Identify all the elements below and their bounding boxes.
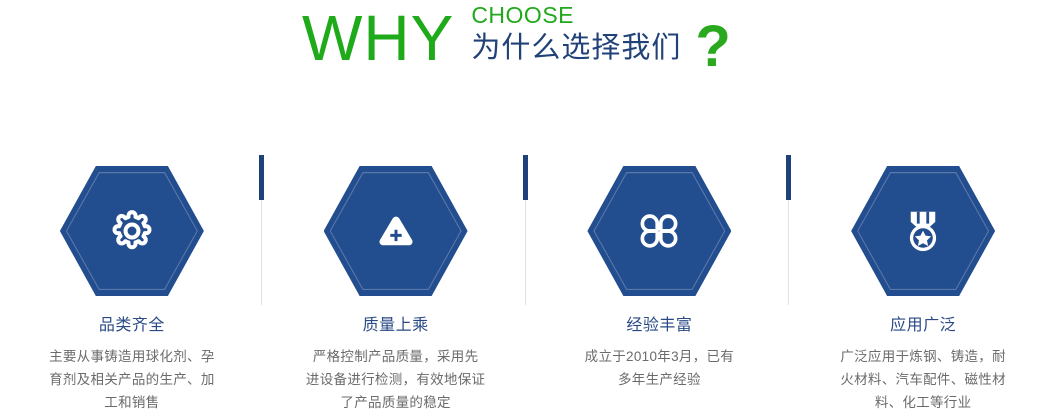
card-body-line: 成立于2010年3月，已有 xyxy=(546,345,772,368)
hexagon-badge-1 xyxy=(60,166,204,296)
card-title: 质量上乘 xyxy=(363,316,429,336)
card-body: 严格控制产品质量，采用先 进设备进行检测，有效地保证 了产品质量的稳定 xyxy=(283,345,509,414)
triangle-plus-icon xyxy=(368,203,424,259)
heading-question-mark: ? xyxy=(695,0,730,76)
hexagon-badge-3 xyxy=(587,166,731,296)
card-body-line: 多年生产经验 xyxy=(546,368,772,391)
feature-card-4: 应用广泛 广泛应用于炼钢、铸造，耐 火材料、汽车配件、磁性材 料、化工等行业 xyxy=(791,150,1055,416)
card-body-line: 育剂及相关产品的生产、加 xyxy=(19,368,245,391)
divider-bottom-segment xyxy=(788,200,789,305)
feature-card-2: 质量上乘 严格控制产品质量，采用先 进设备进行检测，有效地保证 了产品质量的稳定 xyxy=(264,150,528,416)
card-body: 主要从事铸造用球化剂、孕 育剂及相关产品的生产、加 工和销售 xyxy=(19,345,245,414)
card-title: 经验丰富 xyxy=(626,316,692,336)
heading-why: WHY xyxy=(302,0,454,70)
clover-icon xyxy=(631,203,687,259)
card-body-line: 严格控制产品质量，采用先 xyxy=(283,345,509,368)
heading-mid-block: CHOOSE 为什么选择我们 xyxy=(471,0,681,66)
card-body-line: 广泛应用于炼钢、铸造，耐 xyxy=(810,345,1036,368)
card-body-line: 料、化工等行业 xyxy=(810,391,1036,414)
gear-icon xyxy=(104,203,160,259)
feature-card-1: 品类齐全 主要从事铸造用球化剂、孕 育剂及相关产品的生产、加 工和销售 xyxy=(0,150,264,416)
hexagon-badge-4 xyxy=(851,166,995,296)
section-heading: WHY CHOOSE 为什么选择我们 ? xyxy=(0,0,1055,95)
card-body-line: 进设备进行检测，有效地保证 xyxy=(283,368,509,391)
card-title: 应用广泛 xyxy=(890,316,956,336)
medal-icon xyxy=(895,203,951,259)
feature-columns: 品类齐全 主要从事铸造用球化剂、孕 育剂及相关产品的生产、加 工和销售 质量上乘… xyxy=(0,150,1055,416)
card-body: 广泛应用于炼钢、铸造，耐 火材料、汽车配件、磁性材 料、化工等行业 xyxy=(810,345,1036,414)
hexagon-badge-2 xyxy=(324,166,468,296)
card-body: 成立于2010年3月，已有 多年生产经验 xyxy=(546,345,772,391)
card-body-line: 工和销售 xyxy=(19,391,245,414)
divider-bottom-segment xyxy=(261,200,262,305)
card-title: 品类齐全 xyxy=(99,316,165,336)
card-body-line: 火材料、汽车配件、磁性材 xyxy=(810,368,1036,391)
divider-bottom-segment xyxy=(525,200,526,305)
feature-card-3: 经验丰富 成立于2010年3月，已有 多年生产经验 xyxy=(528,150,792,416)
card-body-line: 了产品质量的稳定 xyxy=(283,391,509,414)
heading-inner: WHY CHOOSE 为什么选择我们 ? xyxy=(302,0,731,76)
heading-choose: CHOOSE xyxy=(471,2,681,28)
heading-chinese: 为什么选择我们 xyxy=(471,30,681,66)
card-body-line: 主要从事铸造用球化剂、孕 xyxy=(19,345,245,368)
